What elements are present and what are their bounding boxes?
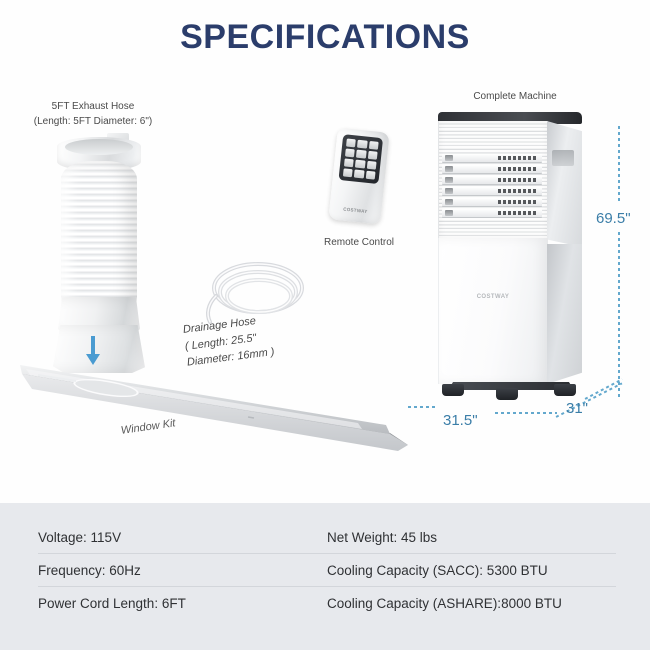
spec-row: Cooling Capacity (SACC): 5300 BTU <box>327 554 616 587</box>
remote-button <box>356 150 366 159</box>
remote-button <box>343 168 353 177</box>
dimension-depth: 31" <box>566 400 588 417</box>
ac-louver-group <box>442 154 542 224</box>
ac-louver <box>442 209 542 218</box>
spec-row: Power Cord Length: 6FT <box>38 587 327 619</box>
ac-lower-body <box>438 238 548 384</box>
ac-louver <box>442 198 542 207</box>
ac-louver <box>442 165 542 174</box>
ac-brand-logo: COSTWAY <box>438 294 548 300</box>
remote-button <box>365 171 375 180</box>
specifications-table: Voltage: 115V Frequency: 60Hz Power Cord… <box>0 503 650 650</box>
depth-dimension-line-upper <box>585 378 623 399</box>
exhaust-hose-label: 5FT Exhaust Hose (Length: 5FT Diameter: … <box>8 100 178 129</box>
spec-column-right: Net Weight: 45 lbs Cooling Capacity (SAC… <box>327 521 616 619</box>
specification-page: SPECIFICATIONS 5FT Exhaust Hose (Length:… <box>0 0 650 650</box>
ac-side-panel <box>547 121 582 247</box>
ac-louver <box>442 176 542 185</box>
remote-button <box>366 161 376 170</box>
remote-button <box>346 139 356 148</box>
height-dimension-line-lower <box>618 232 620 400</box>
ac-caster <box>442 384 464 396</box>
ac-louver <box>442 154 542 163</box>
dimension-height: 69.5" <box>596 210 631 227</box>
ac-base <box>436 380 584 396</box>
ac-louver <box>442 187 542 196</box>
width-dimension-line-left <box>408 406 438 408</box>
remote-button <box>368 151 378 160</box>
remote-button <box>344 158 354 167</box>
remote-button <box>369 141 379 150</box>
width-dimension-line-right <box>495 412 557 414</box>
page-title: SPECIFICATIONS <box>0 18 650 57</box>
remote-button-panel <box>338 134 383 184</box>
ac-caster <box>554 384 576 396</box>
remote-button <box>355 160 365 169</box>
remote-control-image: COSTWAY <box>328 128 389 225</box>
spec-row: Frequency: 60Hz <box>38 554 327 587</box>
remote-control-label: Remote Control <box>300 236 418 251</box>
spec-row: Net Weight: 45 lbs <box>327 521 616 554</box>
exhaust-hose-detail: (Length: 5FT Diameter: 6") <box>8 115 178 130</box>
ac-side-vent <box>552 150 574 166</box>
air-conditioner-image: COSTWAY <box>434 112 586 402</box>
spec-column-left: Voltage: 115V Frequency: 60Hz Power Cord… <box>38 521 327 619</box>
complete-machine-label: Complete Machine <box>420 90 610 105</box>
remote-button <box>357 140 367 149</box>
window-kit-image <box>18 355 418 460</box>
remote-button <box>354 170 364 179</box>
exhaust-hose-name: 5FT Exhaust Hose <box>8 100 178 115</box>
dimension-width: 31.5" <box>443 412 478 429</box>
spec-row: Voltage: 115V <box>38 521 327 554</box>
exhaust-hose-image <box>55 137 143 337</box>
ac-caster <box>496 388 518 400</box>
hose-corrugated-body <box>61 161 137 311</box>
height-dimension-line-upper <box>618 126 620 204</box>
remote-button <box>345 148 355 157</box>
ac-lower-side <box>547 244 582 384</box>
spec-row: Cooling Capacity (ASHARE):8000 BTU <box>327 587 616 619</box>
